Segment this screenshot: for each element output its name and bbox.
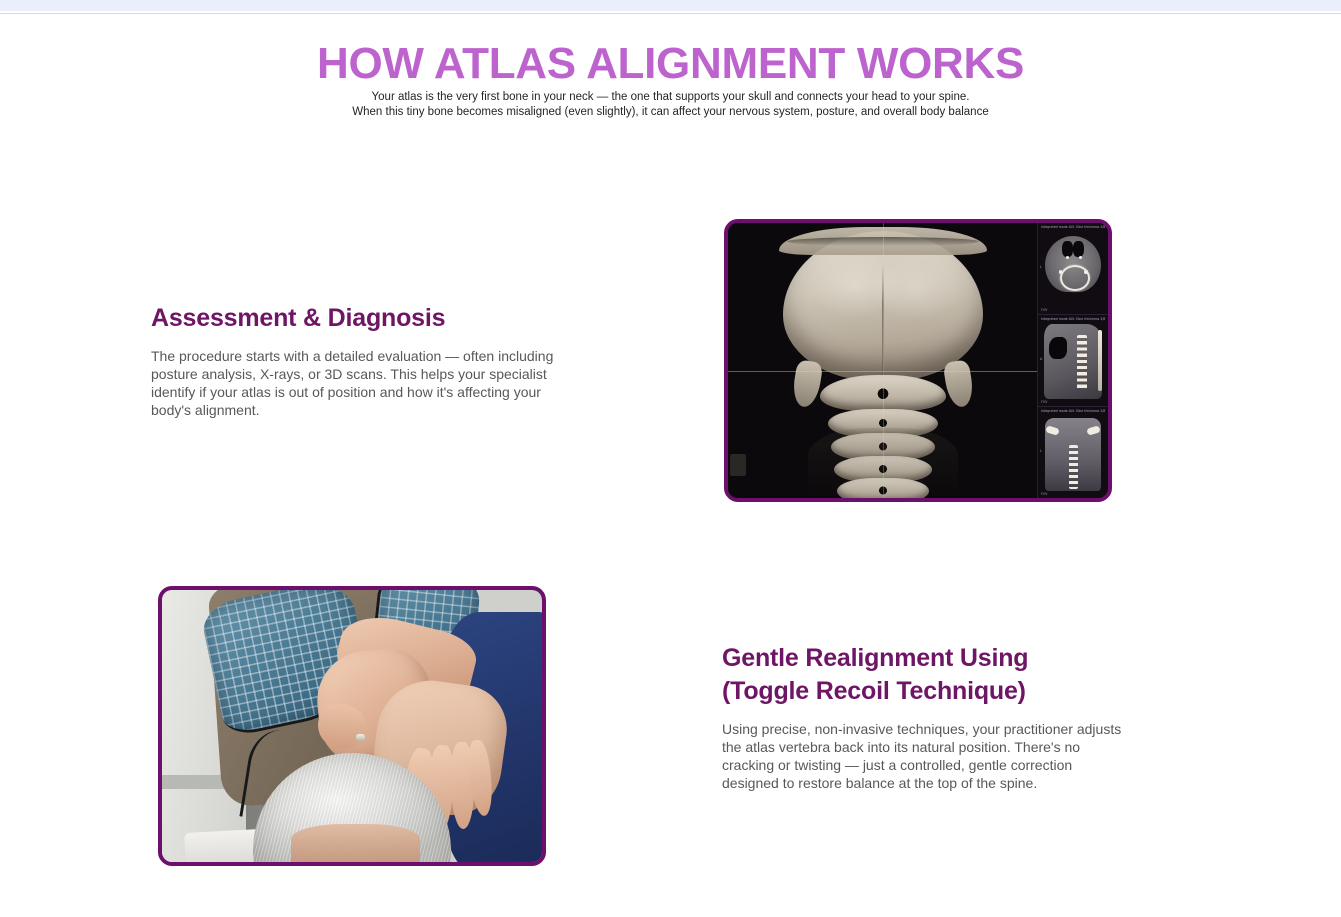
axial-slice-image [1038,223,1108,314]
realignment-heading: Gentle Realignment Using (Toggle Recoil … [722,642,1122,708]
ct-slice-panel-column: Integrated mode AVL Slice thickness 3/8 … [1037,223,1108,498]
ct-3d-reconstruction-view [728,223,1038,498]
page-subtitle-line-2: When this tiny bone becomes misaligned (… [0,105,1341,120]
coronal-slice-label: Integrated mode AVL Slice thickness 3/8 … [1041,409,1105,413]
coronal-orientation-label: L [1040,449,1042,453]
section-assessment-diagnosis: Assessment & Diagnosis The procedure sta… [0,186,1341,526]
axial-bone-dot [1084,270,1087,273]
assessment-copy-block: Assessment & Diagnosis The procedure sta… [151,302,581,419]
page-title: HOW ATLAS ALIGNMENT WORKS [0,38,1341,90]
axial-orientation-label: L [1040,265,1042,269]
coronal-fov-label: FOV [1041,492,1047,496]
patient-nape [291,824,420,862]
axial-atlas-ring [1060,265,1090,291]
section-gentle-realignment: Gentle Realignment Using (Toggle Recoil … [0,554,1341,884]
sagittal-cervical-spine [1077,335,1087,390]
practitioner-ring [356,734,365,741]
sagittal-slice-label: Integrated mode AVL Slice thickness 3/8 … [1041,317,1105,321]
sagittal-soft-tissue [1044,324,1103,399]
ct-scan-image: Integrated mode AVL Slice thickness 3/8 … [728,223,1108,498]
realignment-heading-line-1: Gentle Realignment Using [722,644,1028,672]
axial-fov-label: FOV [1041,308,1047,312]
coronal-cervical-spine [1069,445,1078,489]
page-subtitle: Your atlas is the very first bone in you… [0,90,1341,119]
sagittal-posterior-edge [1098,330,1102,392]
page-subtitle-line-1: Your atlas is the very first bone in you… [0,90,1341,105]
assessment-body-text: The procedure starts with a detailed eva… [151,347,581,419]
axial-slice-label: Integrated mode AVL Slice thickness 3/8 … [1041,225,1105,229]
axial-bone-dot [1079,256,1082,259]
ct-slice-coronal: Integrated mode AVL Slice thickness 3/8 … [1038,407,1108,498]
mastoid-left-shape [791,359,824,409]
sagittal-airway-void [1049,337,1067,359]
sagittal-fov-label: FOV [1041,400,1047,404]
realignment-body-text: Using precise, non-invasive techniques, … [722,720,1122,792]
ct-scan-image-card: Integrated mode AVL Slice thickness 3/8 … [724,219,1112,502]
sagittal-slice-image [1038,315,1108,406]
axial-sinus-left [1062,241,1073,257]
sagittal-orientation-label: A [1040,357,1042,361]
crosshair-vertical-line [883,223,884,498]
coronal-slice-image [1038,407,1108,498]
scan-corner-marker [730,454,746,476]
mastoid-right-shape [943,359,976,409]
axial-sinus-right [1073,241,1084,257]
adjustment-photo [162,590,542,862]
realignment-heading-line-2: (Toggle Recoil Technique) [722,677,1026,705]
ct-slice-axial: Integrated mode AVL Slice thickness 3/8 … [1038,223,1108,315]
adjustment-photo-card [158,586,546,866]
ct-slice-sagittal: Integrated mode AVL Slice thickness 3/8 … [1038,315,1108,407]
realignment-copy-block: Gentle Realignment Using (Toggle Recoil … [722,642,1122,792]
page-canvas: HOW ATLAS ALIGNMENT WORKS Your atlas is … [0,14,1341,917]
assessment-heading: Assessment & Diagnosis [151,302,581,335]
browser-top-strip [0,0,1341,11]
